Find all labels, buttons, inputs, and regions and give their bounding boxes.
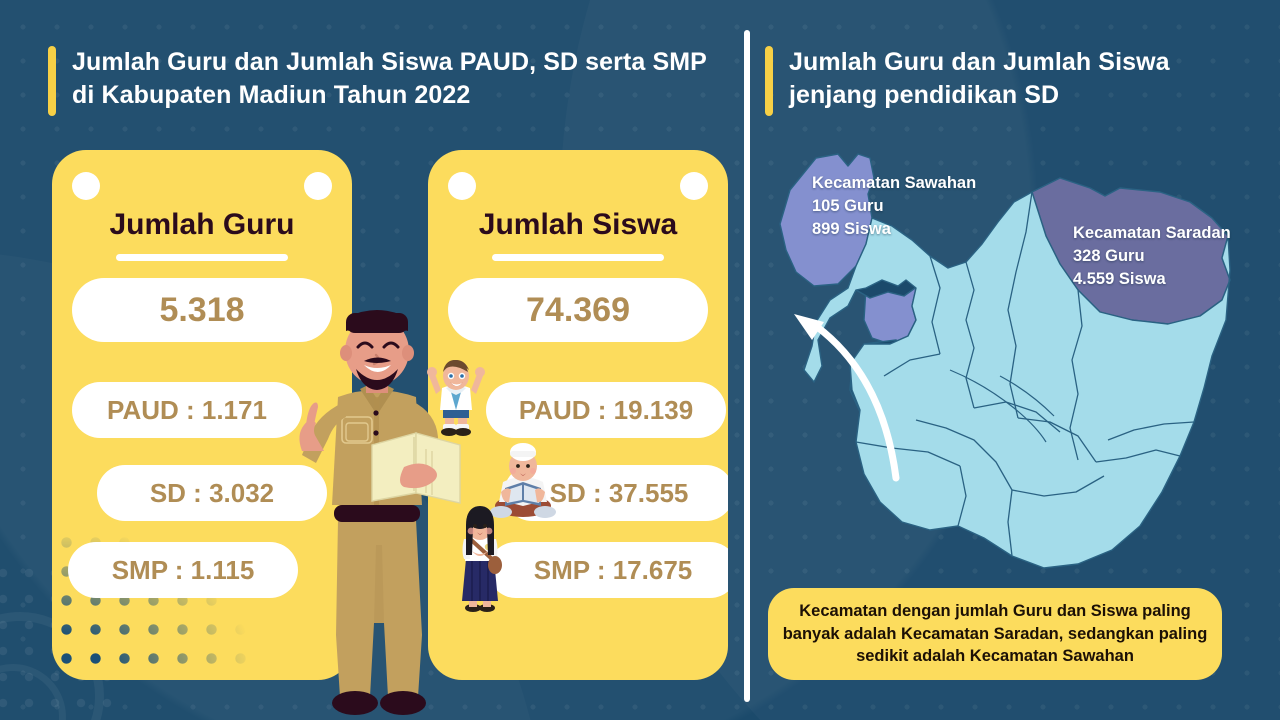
guru-paud-value: PAUD : 1.171 <box>72 382 302 438</box>
card-guru-underline <box>116 254 288 261</box>
infographic-canvas: Jumlah Guru dan Jumlah Siswa PAUD, SD se… <box>0 0 1280 720</box>
map-label-sawahan-guru: 105 Guru <box>812 195 976 218</box>
siswa-total-value: 74.369 <box>448 278 708 342</box>
vertical-divider <box>744 30 750 702</box>
map-label-sawahan: Kecamatan Sawahan 105 Guru 899 Siswa <box>812 172 976 240</box>
map-label-saradan-name: Kecamatan Saradan <box>1073 222 1231 245</box>
siswa-paud-value: PAUD : 19.139 <box>486 382 726 438</box>
left-title-accent-bar <box>48 46 56 116</box>
siswa-smp-value: SMP : 17.675 <box>488 542 728 598</box>
map-label-saradan: Kecamatan Saradan 328 Guru 4.559 Siswa <box>1073 222 1231 290</box>
map-label-saradan-guru: 328 Guru <box>1073 245 1231 268</box>
guru-smp-value: SMP : 1.115 <box>68 542 298 598</box>
right-title-accent-bar <box>765 46 773 116</box>
left-title-block: Jumlah Guru dan Jumlah Siswa PAUD, SD se… <box>48 46 708 116</box>
card-siswa-title: Jumlah Siswa <box>428 208 728 242</box>
punch-hole-left-icon <box>448 172 476 200</box>
right-title-block: Jumlah Guru dan Jumlah Siswa jenjang pen… <box>765 46 1235 116</box>
punch-hole-left-icon <box>72 172 100 200</box>
map-label-sawahan-siswa: 899 Siswa <box>812 218 976 241</box>
right-title-text: Jumlah Guru dan Jumlah Siswa jenjang pen… <box>789 46 1235 112</box>
map-label-sawahan-name: Kecamatan Sawahan <box>812 172 976 195</box>
map-label-saradan-siswa: 4.559 Siswa <box>1073 268 1231 291</box>
student-girl-illustration <box>450 505 510 615</box>
card-guru-title: Jumlah Guru <box>52 208 352 242</box>
card-siswa-underline <box>492 254 664 261</box>
map-caption-box: Kecamatan dengan jumlah Guru dan Siswa p… <box>768 588 1222 680</box>
punch-hole-right-icon <box>680 172 708 200</box>
student-boy-illustration <box>425 358 487 436</box>
left-title-text: Jumlah Guru dan Jumlah Siswa PAUD, SD se… <box>72 46 708 112</box>
punch-hole-right-icon <box>304 172 332 200</box>
